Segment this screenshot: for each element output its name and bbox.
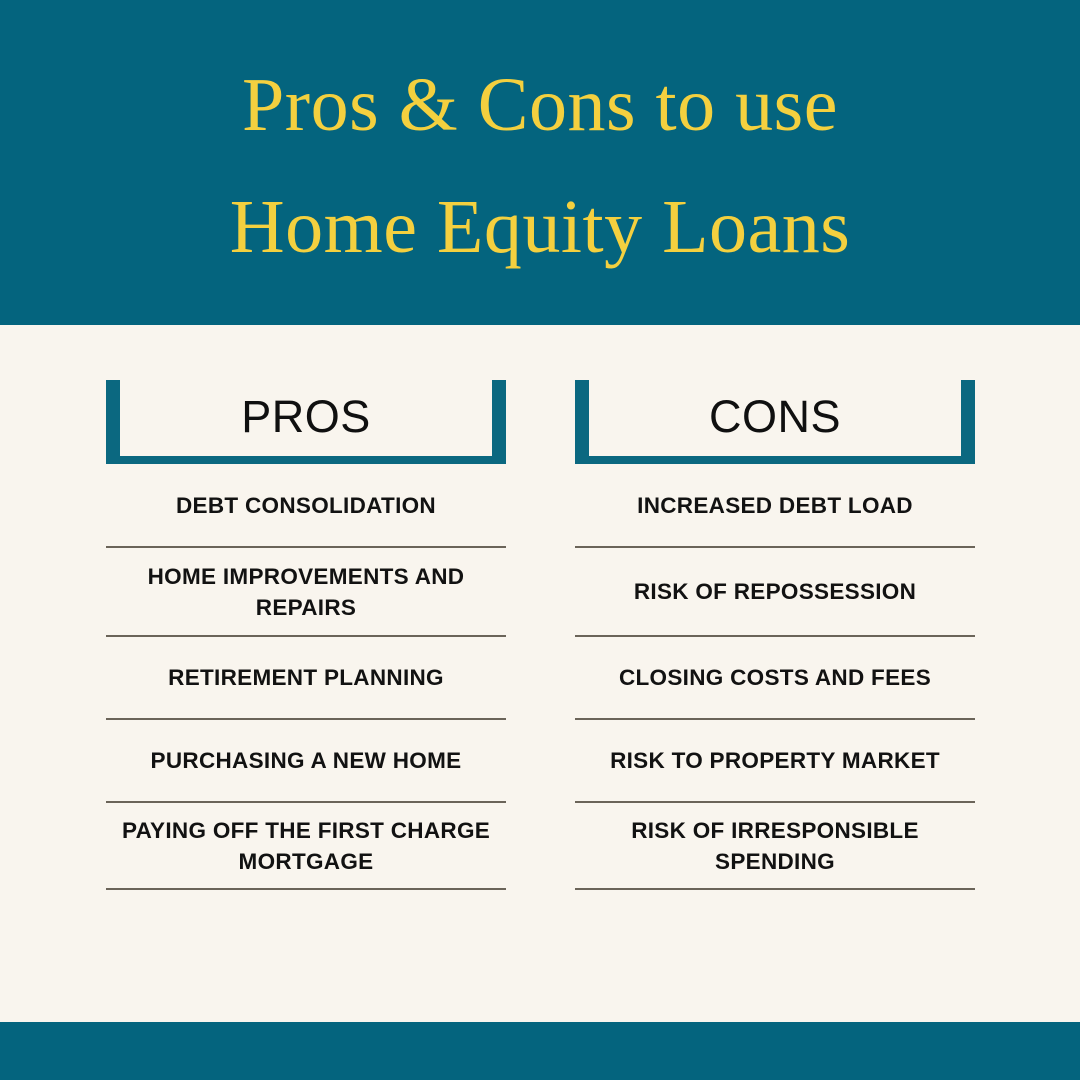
pros-item-label: PURCHASING A NEW HOME: [151, 745, 462, 776]
cons-item-label: RISK OF REPOSSESSION: [634, 576, 916, 607]
list-item: INCREASED DEBT LOAD: [575, 464, 975, 548]
cons-item-label: RISK TO PROPERTY MARKET: [610, 745, 940, 776]
list-item: RISK TO PROPERTY MARKET: [575, 720, 975, 803]
pros-item-label: HOME IMPROVEMENTS AND REPAIRS: [112, 561, 500, 623]
footer-band: [0, 1022, 1080, 1080]
list-item: CLOSING COSTS AND FEES: [575, 637, 975, 720]
cons-item-label: INCREASED DEBT LOAD: [637, 490, 913, 521]
header-band: Pros & Cons to use Home Equity Loans: [0, 0, 1080, 325]
pros-item-label: PAYING OFF THE FIRST CHARGE MORTGAGE: [112, 815, 500, 877]
cons-column: CONS INCREASED DEBT LOAD RISK OF REPOSSE…: [575, 380, 975, 890]
page-title-line-2: Home Equity Loans: [230, 166, 851, 288]
list-item: PAYING OFF THE FIRST CHARGE MORTGAGE: [106, 803, 506, 890]
cons-column-header: CONS: [575, 380, 975, 464]
pros-heading-label: PROS: [241, 394, 371, 439]
list-item: DEBT CONSOLIDATION: [106, 464, 506, 548]
list-item: RISK OF REPOSSESSION: [575, 548, 975, 637]
comparison-body: PROS DEBT CONSOLIDATION HOME IMPROVEMENT…: [0, 325, 1080, 1022]
pros-item-label: DEBT CONSOLIDATION: [176, 490, 436, 521]
cons-item-label: RISK OF IRRESPONSIBLE SPENDING: [581, 815, 969, 877]
page-title-line-1: Pros & Cons to use: [242, 44, 838, 166]
list-item: PURCHASING A NEW HOME: [106, 720, 506, 803]
list-item: HOME IMPROVEMENTS AND REPAIRS: [106, 548, 506, 637]
pros-item-label: RETIREMENT PLANNING: [168, 662, 444, 693]
cons-list: INCREASED DEBT LOAD RISK OF REPOSSESSION…: [575, 464, 975, 890]
cons-item-label: CLOSING COSTS AND FEES: [619, 662, 931, 693]
pros-column-header: PROS: [106, 380, 506, 464]
pros-column: PROS DEBT CONSOLIDATION HOME IMPROVEMENT…: [106, 380, 506, 890]
cons-heading-label: CONS: [709, 394, 841, 439]
list-item: RISK OF IRRESPONSIBLE SPENDING: [575, 803, 975, 890]
list-item: RETIREMENT PLANNING: [106, 637, 506, 720]
pros-list: DEBT CONSOLIDATION HOME IMPROVEMENTS AND…: [106, 464, 506, 890]
